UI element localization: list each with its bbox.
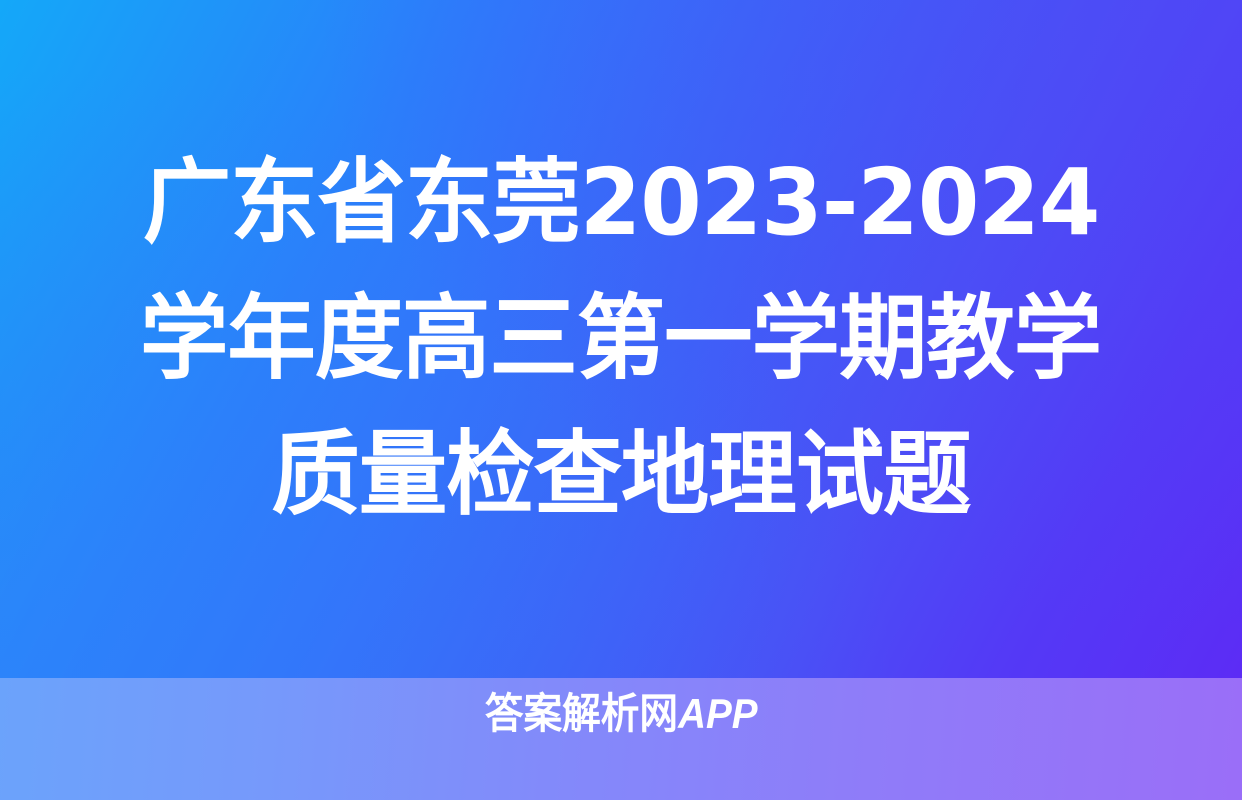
poster-title-block: 广东省东莞2023-2024 学年度高三第一学期教学 质量检查地理试题: [0, 0, 1242, 678]
app-watermark-latin: APP: [678, 690, 757, 737]
poster-title-line-2: 学年度高三第一学期教学: [141, 271, 1102, 407]
app-watermark-cn: 答案解析网: [485, 689, 678, 738]
app-watermark: 答案解析网APP: [485, 686, 758, 742]
poster-title-line-1: 广东省东莞2023-2024: [143, 135, 1099, 271]
footer-watermark-band: 答案解析网APP: [0, 678, 1242, 800]
exam-title-poster: 广东省东莞2023-2024 学年度高三第一学期教学 质量检查地理试题 答案解析…: [0, 0, 1242, 800]
poster-title-line-3: 质量检查地理试题: [272, 407, 971, 543]
